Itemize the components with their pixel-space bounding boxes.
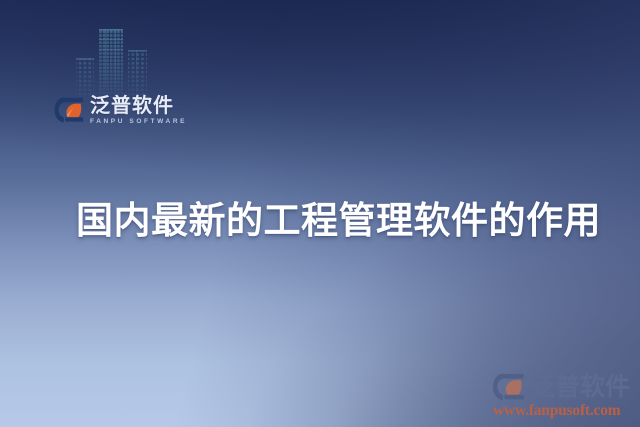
brand-logo: 泛普软件 FANPU SOFTWARE xyxy=(54,96,187,126)
watermark-brand-row: 泛普软件 xyxy=(492,373,630,402)
skyline-tower-left xyxy=(76,58,94,98)
skyline-illustration xyxy=(74,27,150,99)
skyline-tower-center xyxy=(99,29,123,98)
promo-banner: 泛普软件 FANPU SOFTWARE 国内最新的工程管理软件的作用 泛普软件 … xyxy=(0,0,640,427)
brand-logo-wordmark: 泛普软件 FANPU SOFTWARE xyxy=(90,96,187,126)
watermark-logo-mark-icon xyxy=(492,373,525,402)
watermark-url: www.fanpusoft.com xyxy=(492,403,630,419)
watermark: 泛普软件 www.fanpusoft.com xyxy=(492,373,630,419)
fanpu-logo-mark-icon xyxy=(54,97,84,124)
skyline-tower-right xyxy=(128,50,147,98)
headline-title: 国内最新的工程管理软件的作用 xyxy=(76,190,601,244)
brand-name-en: FANPU SOFTWARE xyxy=(90,119,187,126)
watermark-brand-name: 泛普软件 xyxy=(530,375,630,400)
brand-name-cn: 泛普软件 xyxy=(90,96,187,116)
